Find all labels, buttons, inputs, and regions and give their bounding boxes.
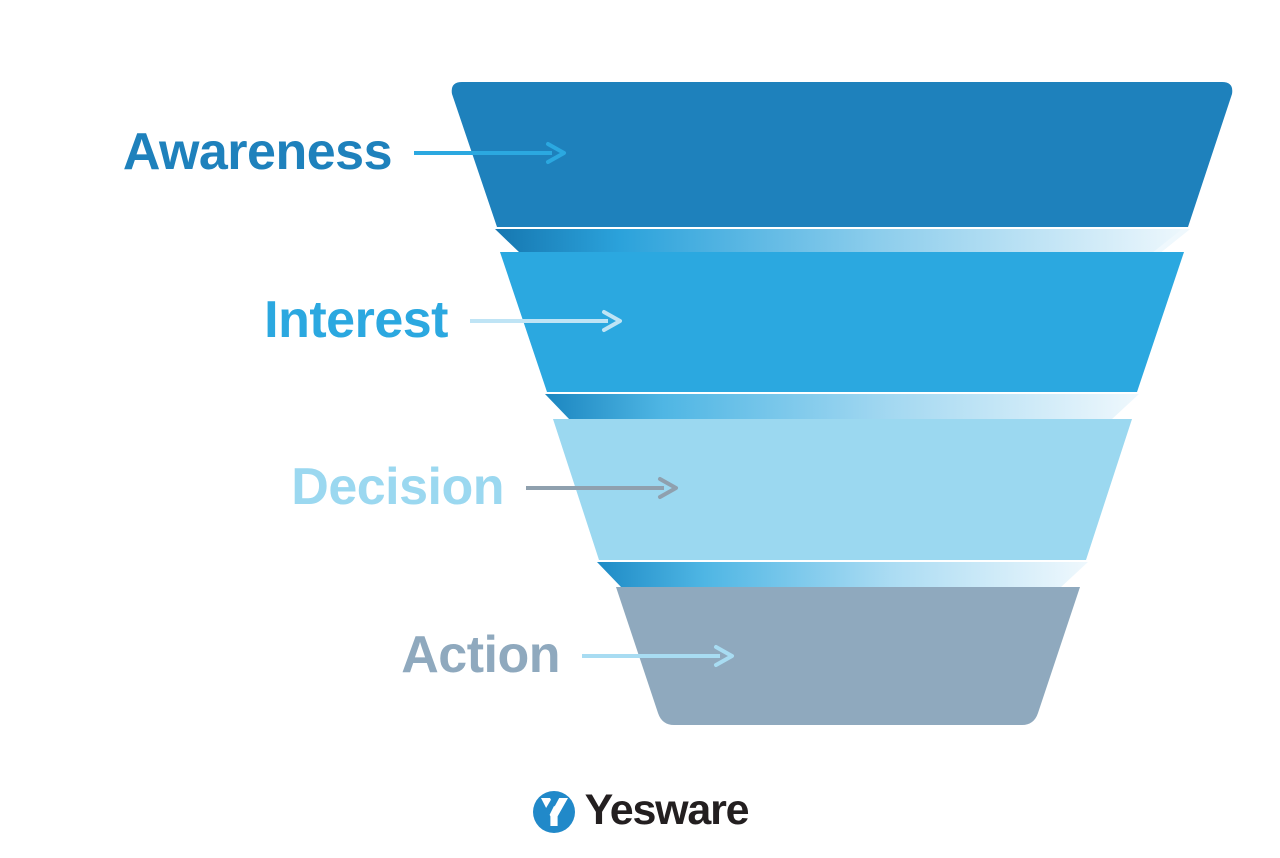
- funnel-arrow-decision: [524, 473, 684, 503]
- funnel-label-awareness: Awareness: [0, 126, 392, 178]
- funnel-label-interest: Interest: [0, 294, 448, 346]
- funnel-connector-decision-action: [597, 562, 1088, 588]
- brand-logo: Yesware: [0, 786, 1280, 838]
- yesware-wordmark: Yesware: [585, 789, 749, 832]
- yesware-mark-icon: [532, 790, 576, 834]
- funnel-connector-awareness-interest: [495, 229, 1190, 253]
- funnel-connector-interest-decision: [545, 394, 1139, 420]
- funnel-diagram-canvas: Awareness Interest Decision Action Yeswa…: [0, 0, 1280, 858]
- funnel-arrow-awareness: [412, 138, 572, 168]
- funnel-arrow-interest: [468, 306, 628, 336]
- funnel-label-action: Action: [0, 629, 560, 681]
- funnel-arrow-action: [580, 641, 740, 671]
- funnel-label-decision: Decision: [0, 461, 504, 513]
